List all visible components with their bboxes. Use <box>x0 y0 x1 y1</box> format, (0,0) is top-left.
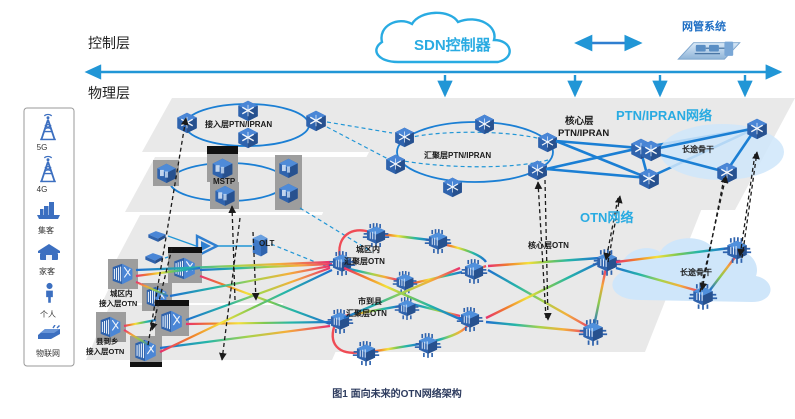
otn-access-urban-label-2: 接入层OTN <box>99 298 137 308</box>
control-to-physical-arrows <box>445 75 745 95</box>
control-layer-label: 控制层 <box>88 35 130 51</box>
otn-backbone-label: 长途骨干 <box>680 267 712 277</box>
legend-label-5g: 5G <box>37 143 48 152</box>
legend-label-4g: 4G <box>37 185 48 194</box>
otn-agg-urban-label-1: 城区内 <box>356 244 380 254</box>
ptn-core-label-2: PTN/IPRAN <box>558 128 609 139</box>
ptn-network-title: PTN/IPRAN网络 <box>616 108 712 123</box>
physical-layer-label: 物理层 <box>88 85 130 101</box>
nms-icon <box>678 42 740 60</box>
ptn-access-ring-label: 接入层PTN/IPRAN <box>205 119 272 129</box>
nms-label: 网管系统 <box>682 19 726 33</box>
legend-label-iot: 物联网 <box>36 348 60 358</box>
ptn-core-label-1: 核心层 <box>565 115 594 127</box>
legend-label-person: 个人 <box>40 310 56 319</box>
otn-core-label: 核心层OTN <box>528 240 569 250</box>
legend-label-enterprise: 集客 <box>38 225 54 235</box>
otn-agg-city-label-2: 汇聚层OTN <box>346 308 387 318</box>
olt-label: OLT <box>259 239 275 248</box>
ptn-agg-ring-label: 汇聚层PTN/IPRAN <box>424 150 491 160</box>
figure-caption: 图1 面向未来的OTN网络架构 <box>332 387 461 400</box>
ptn-backbone-label: 长途骨干 <box>682 144 714 154</box>
mstp-label: MSTP <box>213 177 236 186</box>
otn-access-county-label-1: 县到乡 <box>96 336 119 346</box>
otn-agg-urban-label-2: 汇聚层OTN <box>344 256 385 266</box>
sdn-controller-label: SDN控制器 <box>414 36 492 54</box>
legend-label-home: 家客 <box>39 266 55 276</box>
otn-access-urban-label-1: 城区内 <box>110 288 133 298</box>
otn-network-title: OTN网络 <box>580 210 633 225</box>
otn-access-county-label-2: 接入层OTN <box>86 346 124 356</box>
access-types-legend <box>24 108 74 366</box>
figure-canvas: 控制层 物理层 SDN控制器 网管系统 PTN/IPRAN网络 OTN网络 接入… <box>0 0 795 419</box>
otn-agg-city-label-1: 市到县 <box>358 296 382 306</box>
